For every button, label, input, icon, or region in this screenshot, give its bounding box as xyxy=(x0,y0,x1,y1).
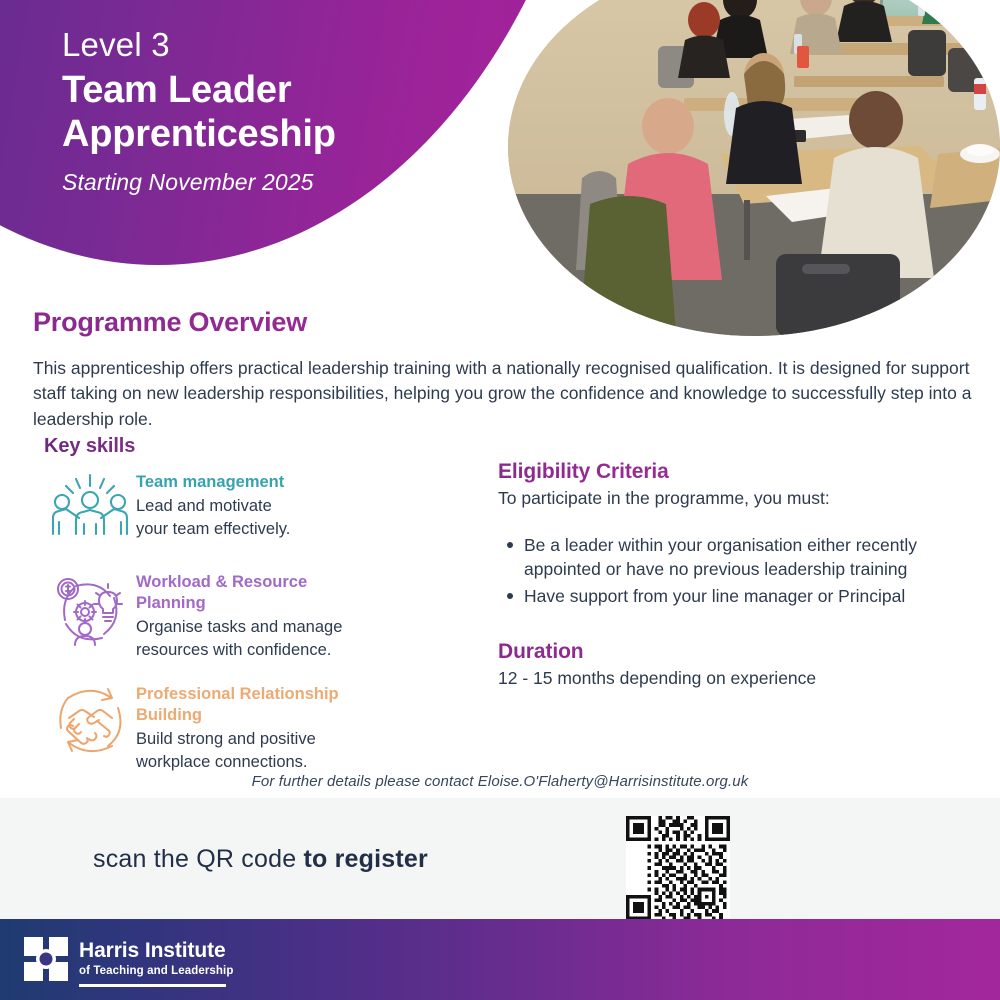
logo-underline xyxy=(79,984,226,987)
key-skills-title: Key skills xyxy=(44,435,464,458)
list-item: Have support from your line manager or P… xyxy=(524,584,938,609)
poster-header: Level 3 Team Leader Apprenticeship Start… xyxy=(0,0,1000,340)
course-start-date: Starting November 2025 xyxy=(62,169,502,197)
eligibility-criteria-list: Be a leader within your organisation eit… xyxy=(498,533,938,609)
eligibility-section: Eligibility Criteria To participate in t… xyxy=(498,460,938,691)
qr-code-icon[interactable] xyxy=(626,816,730,920)
team-people-icon xyxy=(44,470,136,550)
skill-desc-line2: your team effectively. xyxy=(136,518,290,541)
header-text-block: Level 3 Team Leader Apprenticeship Start… xyxy=(62,27,502,197)
logo-name: Harris Institute xyxy=(79,940,233,962)
resource-planning-icon xyxy=(44,570,136,650)
contact-line: For further details please contact Elois… xyxy=(0,773,1000,790)
skill-desc-line2: resources with confidence. xyxy=(136,639,342,662)
skill-desc-workload-resource-planning: Organise tasks and manage resources with… xyxy=(136,616,342,662)
eligibility-title: Eligibility Criteria xyxy=(498,460,938,484)
duration-text: 12 - 15 months depending on experience xyxy=(498,666,938,691)
skill-desc-line2: workplace connections. xyxy=(136,751,339,774)
skill-title-line1: Professional Relationship xyxy=(136,684,339,705)
skill-title-line2: Planning xyxy=(136,593,342,614)
skill-desc-line1: Organise tasks and manage xyxy=(136,616,342,639)
skill-text-professional-relationship-building: Professional Relationship Building Build… xyxy=(136,682,339,774)
harris-squares-logo-icon xyxy=(24,937,68,981)
programme-overview-title: Programme Overview xyxy=(33,307,978,338)
skill-desc-professional-relationship-building: Build strong and positive workplace conn… xyxy=(136,728,339,774)
poster-canvas: Level 3 Team Leader Apprenticeship Start… xyxy=(0,0,1000,1000)
course-level: Level 3 xyxy=(62,27,502,64)
course-title: Team Leader Apprenticeship xyxy=(62,68,502,156)
qr-text-regular: scan the QR code xyxy=(93,845,303,873)
list-item: Be a leader within your organisation eit… xyxy=(524,533,938,582)
qr-band: scan the QR code to register xyxy=(0,798,1000,919)
skill-desc-line1: Lead and motivate xyxy=(136,495,290,518)
skill-text-workload-resource-planning: Workload & Resource Planning Organise ta… xyxy=(136,570,342,662)
duration-section: Duration 12 - 15 months depending on exp… xyxy=(498,640,938,691)
skill-title-line2: Building xyxy=(136,705,339,726)
skill-item-workload-resource-planning: Workload & Resource Planning Organise ta… xyxy=(44,570,464,662)
course-title-line1: Team Leader xyxy=(62,68,502,112)
harris-institute-logo: Harris Institute of Teaching and Leaders… xyxy=(24,937,233,987)
logo-wordmark: Harris Institute of Teaching and Leaders… xyxy=(79,937,233,987)
eligibility-lead: To participate in the programme, you mus… xyxy=(498,486,938,511)
skill-item-professional-relationship-building: Professional Relationship Building Build… xyxy=(44,682,464,774)
duration-title: Duration xyxy=(498,640,938,664)
key-skills-section: Key skills xyxy=(44,435,464,794)
programme-overview-section: Programme Overview This apprenticeship o… xyxy=(33,307,978,432)
skill-title-line1: Workload & Resource xyxy=(136,572,342,593)
poster-footer: Harris Institute of Teaching and Leaders… xyxy=(0,919,1000,1000)
qr-text-bold: to register xyxy=(303,845,427,873)
logo-subtitle: of Teaching and Leadership xyxy=(79,965,233,978)
skill-desc-line1: Build strong and positive xyxy=(136,728,339,751)
handshake-icon xyxy=(44,682,136,762)
skill-text-team-management: Team management Lead and motivate your t… xyxy=(136,470,290,541)
course-title-line2: Apprenticeship xyxy=(62,112,502,156)
programme-overview-body: This apprenticeship offers practical lea… xyxy=(33,356,978,432)
skill-desc-team-management: Lead and motivate your team effectively. xyxy=(136,495,290,541)
skill-title-workload-resource-planning: Workload & Resource Planning xyxy=(136,572,342,614)
skill-item-team-management: Team management Lead and motivate your t… xyxy=(44,470,464,550)
qr-instruction-text: scan the QR code to register xyxy=(93,845,428,874)
skill-title-professional-relationship-building: Professional Relationship Building xyxy=(136,684,339,726)
skill-title-team-management: Team management xyxy=(136,472,290,493)
